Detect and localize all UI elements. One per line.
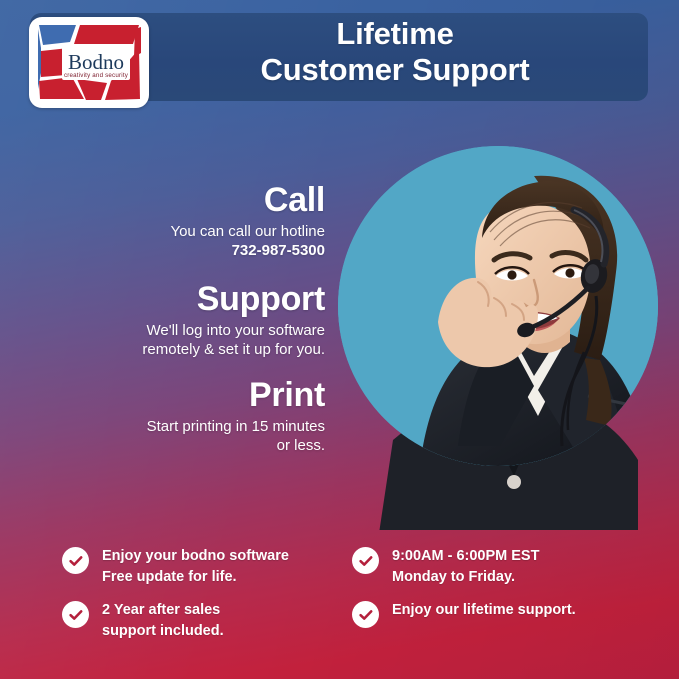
feature-call: Call You can call our hotline 732-987-53…: [40, 183, 325, 261]
page-title: Lifetime Customer Support: [160, 16, 630, 88]
agent-photo-image: [338, 146, 658, 466]
list-item-line1: Enjoy our lifetime support.: [392, 600, 576, 621]
agent-photo: [338, 146, 658, 466]
checklist-column-left: Enjoy your bodno software Free update fo…: [62, 545, 352, 653]
list-item-text: Enjoy our lifetime support.: [392, 599, 576, 621]
check-circle-icon: [62, 547, 89, 574]
poster-canvas: Lifetime Customer Support: [0, 0, 679, 679]
list-item-line1: 9:00AM - 6:00PM EST: [392, 546, 539, 567]
check-circle-icon: [352, 547, 379, 574]
feature-print-line2: or less.: [40, 436, 325, 456]
feature-support-line1: We'll log into your software: [30, 321, 325, 341]
list-item-line1: Enjoy your bodno software: [102, 546, 289, 567]
list-item-text: 2 Year after sales support included.: [102, 599, 224, 641]
check-circle-icon: [62, 601, 89, 628]
page-title-line2: Customer Support: [160, 52, 630, 88]
svg-text:creativity and security: creativity and security: [64, 72, 129, 79]
list-item-text: 9:00AM - 6:00PM EST Monday to Friday.: [392, 545, 539, 587]
list-item: Enjoy our lifetime support.: [352, 599, 652, 639]
list-item-line2: Monday to Friday.: [392, 567, 539, 588]
list-item: 2 Year after sales support included.: [62, 599, 352, 641]
feature-call-line1: You can call our hotline: [40, 222, 325, 242]
feature-call-phone[interactable]: 732-987-5300: [40, 241, 325, 261]
bodno-logo[interactable]: Bodno creativity and security: [29, 17, 149, 108]
page-title-line1: Lifetime: [336, 16, 453, 51]
feature-print: Print Start printing in 15 minutes or le…: [40, 378, 325, 456]
list-item-line2: Free update for life.: [102, 567, 289, 588]
feature-call-title: Call: [40, 183, 325, 219]
checklist-column-right: 9:00AM - 6:00PM EST Monday to Friday. En…: [352, 545, 652, 651]
list-item-line1: 2 Year after sales: [102, 600, 224, 621]
list-item: 9:00AM - 6:00PM EST Monday to Friday.: [352, 545, 652, 587]
feature-support: Support We'll log into your software rem…: [30, 282, 325, 360]
svg-text:Bodno: Bodno: [68, 50, 124, 74]
bodno-logo-mark: Bodno creativity and security: [29, 17, 149, 108]
feature-support-line2: remotely & set it up for you.: [30, 340, 325, 360]
list-item: Enjoy your bodno software Free update fo…: [62, 545, 352, 587]
benefits-checklist: Enjoy your bodno software Free update fo…: [0, 545, 679, 645]
feature-support-title: Support: [30, 282, 325, 318]
list-item-line2: support included.: [102, 621, 224, 642]
feature-print-title: Print: [40, 378, 325, 414]
list-item-text: Enjoy your bodno software Free update fo…: [102, 545, 289, 587]
feature-print-line1: Start printing in 15 minutes: [40, 417, 325, 437]
check-circle-icon: [352, 601, 379, 628]
